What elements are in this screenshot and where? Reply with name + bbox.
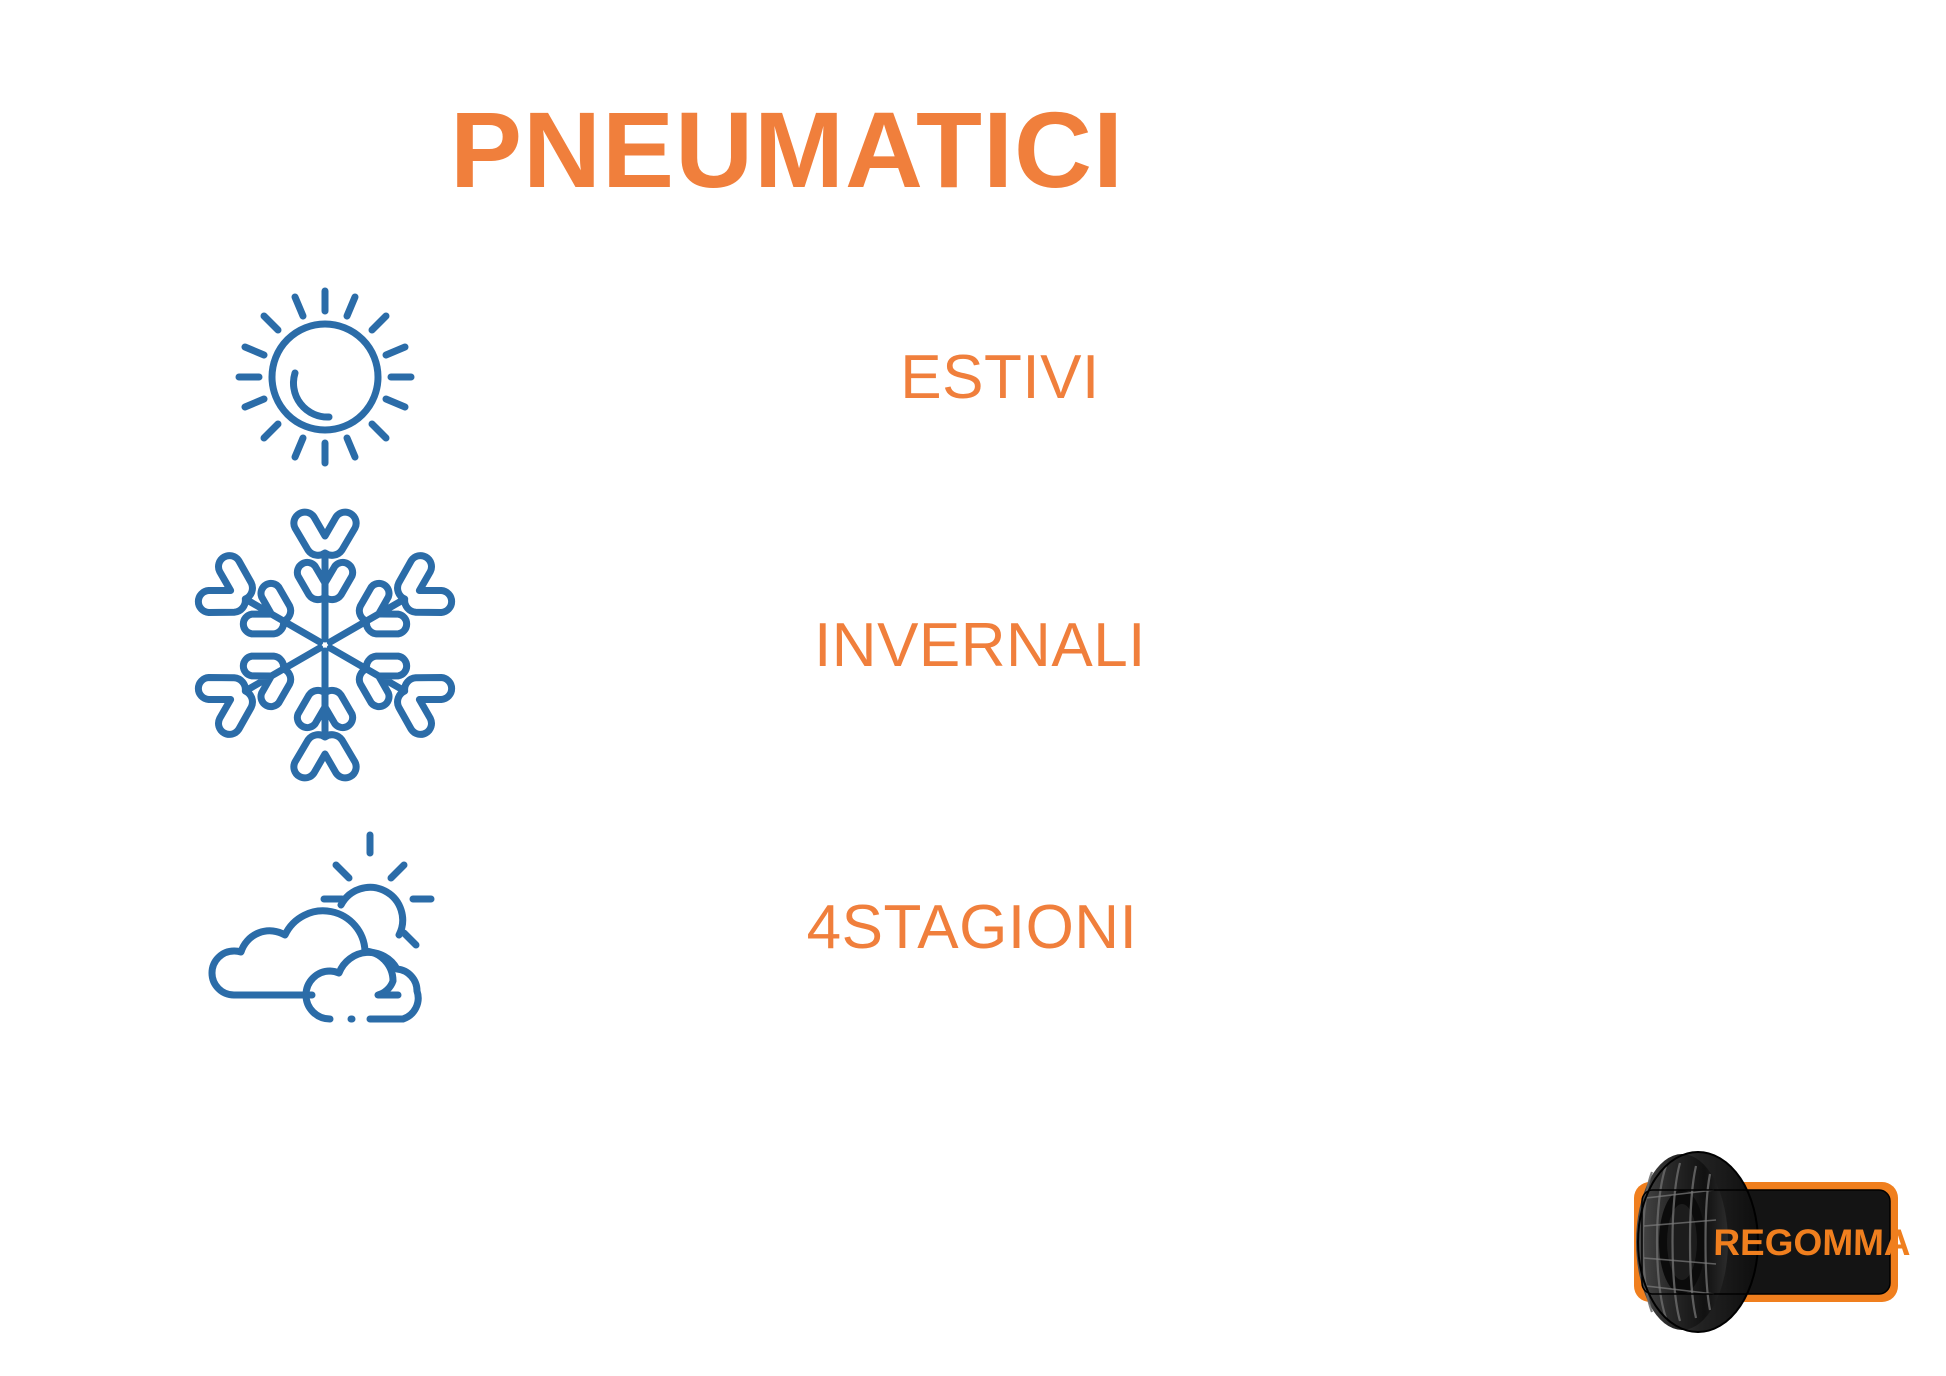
list-item: 4STAGIONI: [0, 822, 1574, 1032]
sun-icon: [200, 272, 450, 482]
regomma-logo: REGOMMA: [1618, 1128, 1908, 1358]
logo-wordmark: REGOMMA: [1726, 1216, 1899, 1268]
sun-behind-clouds-icon: [200, 822, 450, 1032]
row-label-estivi: ESTIVI: [700, 272, 1300, 482]
list-item: ESTIVI: [0, 272, 1574, 482]
snowflake-icon: [200, 540, 450, 750]
row-label-invernali: INVERNALI: [680, 540, 1280, 750]
row-label-4stagioni: 4STAGIONI: [672, 822, 1272, 1032]
page-title: PNEUMATICI: [0, 96, 1574, 204]
slide-canvas: PNEUMATICI: [0, 0, 1946, 1376]
list-item: INVERNALI: [0, 540, 1574, 750]
